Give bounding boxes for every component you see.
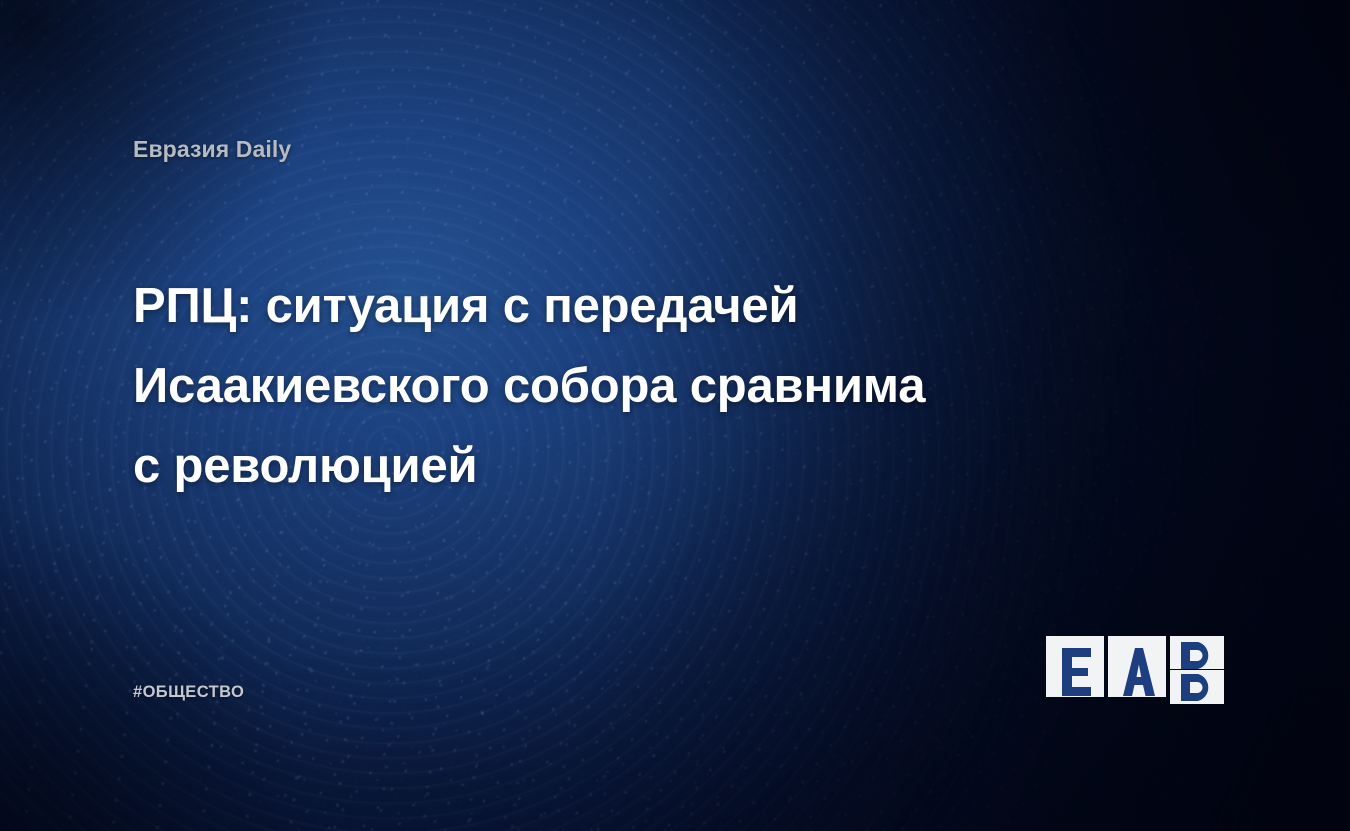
card-content: Евразия Daily РПЦ: ситуация с передачей … xyxy=(0,0,1350,831)
brand-name: Евразия Daily xyxy=(133,136,291,163)
logo-letter-e xyxy=(1062,648,1091,696)
page-title: РПЦ: ситуация с передачей Исаакиевского … xyxy=(133,266,1063,506)
headline-line-2: Исаакиевского собора сравнима xyxy=(133,346,1063,426)
headline-line-1: РПЦ: ситуация с передачей xyxy=(133,266,1063,346)
category-tag[interactable]: #ОБЩЕСТВО xyxy=(133,683,244,702)
headline-line-3: с революцией xyxy=(133,426,1063,506)
eadaily-logo[interactable] xyxy=(1046,636,1224,704)
article-share-card: Евразия Daily РПЦ: ситуация с передачей … xyxy=(0,0,1350,831)
